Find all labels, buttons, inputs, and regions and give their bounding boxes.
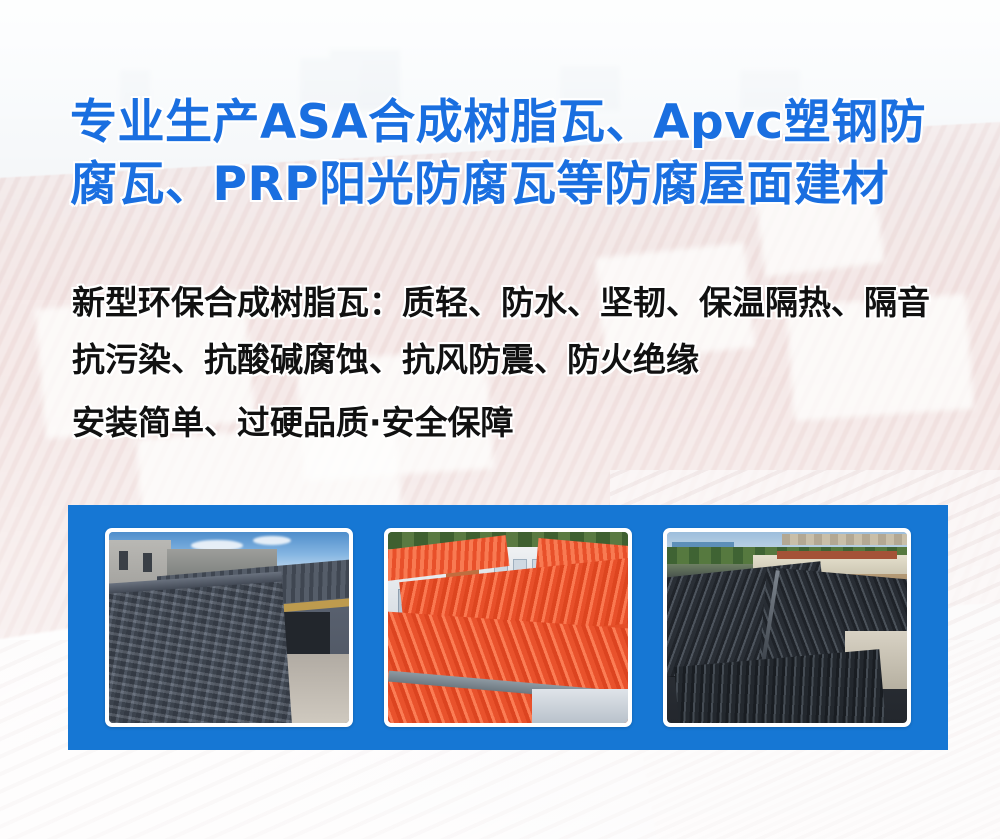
subheadline-line-2: 抗污染、抗酸碱腐蚀、抗风防震、防火绝缘: [72, 331, 972, 388]
photo-frame-2: [384, 528, 632, 727]
headline-line-1: 专业生产ASA合成树脂瓦、Apvc塑钢防: [70, 92, 950, 154]
banner-content: 专业生产ASA合成树脂瓦、Apvc塑钢防 腐瓦、PRP阳光防腐瓦等防腐屋面建材 …: [0, 0, 1000, 839]
product-banner: 专业生产ASA合成树脂瓦、Apvc塑钢防 腐瓦、PRP阳光防腐瓦等防腐屋面建材 …: [0, 0, 1000, 839]
photo2-lower-wall: [532, 689, 628, 723]
photo-frame-3: [663, 528, 911, 727]
photo3-red-roof: [777, 551, 897, 559]
photo-frame-1: [105, 528, 353, 727]
subheadline: 新型环保合成树脂瓦：质轻、防水、坚韧、保温隔热、隔音 抗污染、抗酸碱腐蚀、抗风防…: [72, 274, 972, 451]
black-resin-tile-roof-photo: [667, 532, 907, 723]
headline-line-2: 腐瓦、PRP阳光防腐瓦等防腐屋面建材: [70, 154, 950, 216]
photo1-main-tile-roof: [109, 575, 292, 723]
headline: 专业生产ASA合成树脂瓦、Apvc塑钢防 腐瓦、PRP阳光防腐瓦等防腐屋面建材: [70, 92, 950, 216]
photo-gallery-panel: [68, 505, 948, 750]
photo1-window: [143, 553, 153, 572]
photo1-window: [119, 551, 129, 570]
subheadline-line-3: 安装简单、过硬品质·安全保障: [72, 394, 972, 451]
subheadline-line-1: 新型环保合成树脂瓦：质轻、防水、坚韧、保温隔热、隔音: [72, 274, 972, 331]
photo3-distant-city: [782, 534, 907, 545]
grey-resin-tile-roof-photo: [109, 532, 349, 723]
red-resin-tile-roof-photo: [388, 532, 628, 723]
